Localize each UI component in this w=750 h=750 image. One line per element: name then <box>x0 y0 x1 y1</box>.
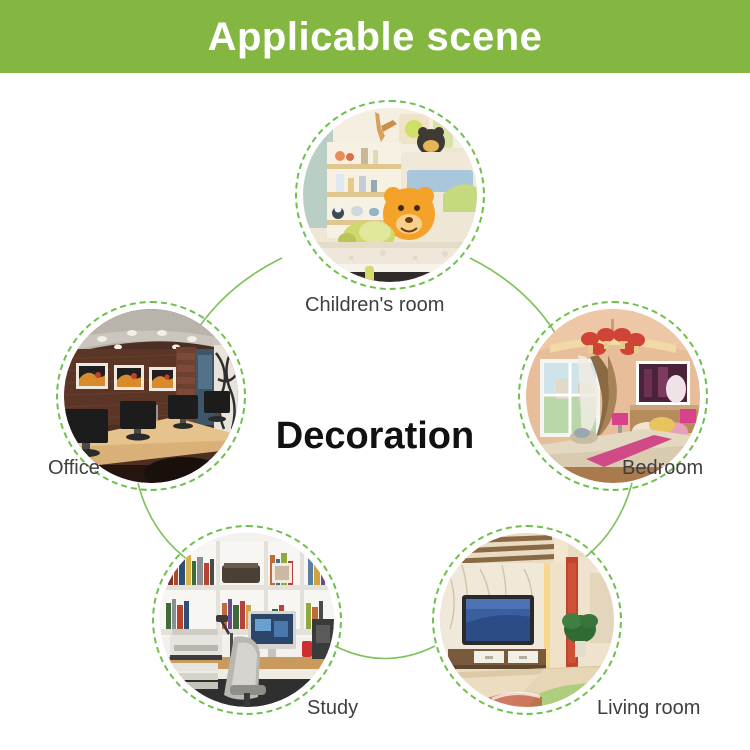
label-office: Office <box>48 458 100 478</box>
node-living-room[interactable] <box>432 525 622 715</box>
header-banner: Applicable scene <box>0 0 750 73</box>
center-title: Decoration <box>0 417 750 455</box>
node-children-room[interactable] <box>295 100 485 290</box>
applicable-scene-infographic: Applicable scene <box>0 0 750 750</box>
label-living-room: Living room <box>597 698 700 718</box>
photo-children-room <box>303 108 477 282</box>
label-study: Study <box>307 698 358 718</box>
photo-study <box>160 533 334 707</box>
photo-living-room <box>440 533 614 707</box>
label-children-room: Children's room <box>305 295 444 315</box>
diagram-stage: Children's room <box>0 73 750 750</box>
page-title: Applicable scene <box>208 17 543 57</box>
node-study[interactable] <box>152 525 342 715</box>
label-bedroom: Bedroom <box>622 458 703 478</box>
